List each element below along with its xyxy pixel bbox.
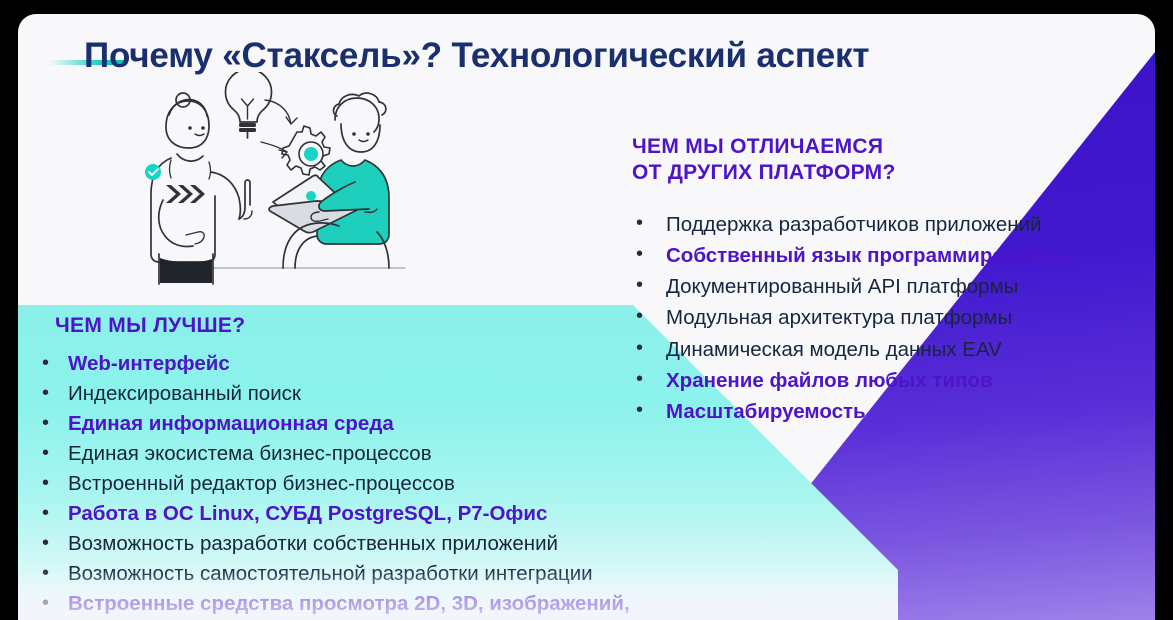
bullet-dot-icon: • xyxy=(36,349,68,378)
bullet-dot-icon: • xyxy=(632,209,666,238)
left-column-heading: ЧЕМ МЫ ЛУЧШЕ? xyxy=(36,314,736,338)
list-item: • Индексированный поиск xyxy=(36,379,736,409)
list-item: • Единая информационная среда xyxy=(36,409,736,439)
list-item: • Встроенный редактор бизнес-процессов xyxy=(36,469,736,499)
list-item-label: Работа в ОС Linux, СУБД PostgreSQL, Р7-О… xyxy=(68,499,736,529)
right-heading-line-2: ОТ ДРУГИХ ПЛАТФОРМ? xyxy=(632,160,1152,186)
bullet-dot-icon: • xyxy=(36,559,68,588)
bullet-dot-icon: • xyxy=(36,529,68,558)
list-item-label: Масштабируемость xyxy=(666,396,1152,427)
list-item-label: Возможность самостоятельной разработки и… xyxy=(68,559,736,589)
list-item-label: Встроенный редактор бизнес-процессов xyxy=(68,469,736,499)
video-frame: Почему «Стаксель»? Технологический аспек… xyxy=(0,0,1173,620)
presentation-slide: Почему «Стаксель»? Технологический аспек… xyxy=(18,14,1155,620)
list-item-label: Собственный язык программирования xyxy=(666,240,1152,271)
bullet-dot-icon: • xyxy=(36,589,68,618)
bullet-dot-icon: • xyxy=(632,240,666,269)
list-item-label: Индексированный поиск xyxy=(68,379,736,409)
list-item: • Возможность самостоятельной разработки… xyxy=(36,559,736,589)
list-item-label: Динамическая модель данных EAV xyxy=(666,334,1152,365)
list-item: • Web-интерфейс xyxy=(36,349,736,379)
bullet-dot-icon: • xyxy=(36,469,68,498)
right-column-heading: ЧЕМ МЫ ОТЛИЧАЕМСЯ ОТ ДРУГИХ ПЛАТФОРМ? xyxy=(632,134,1152,187)
list-item: • Работа в ОС Linux, СУБД PostgreSQL, Р7… xyxy=(36,499,736,529)
right-heading-line-1: ЧЕМ МЫ ОТЛИЧАЕМСЯ xyxy=(632,134,1152,160)
bullet-dot-icon: • xyxy=(36,439,68,468)
list-item: • Возможность разработки собственных при… xyxy=(36,529,736,559)
list-item-label: Возможность разработки собственных прило… xyxy=(68,529,736,559)
list-item: • Документированный API платформы xyxy=(632,271,1152,302)
list-item-label: Документированный API платформы xyxy=(666,271,1152,302)
page-title: Почему «Стаксель»? Технологический аспек… xyxy=(84,36,869,76)
bullet-dot-icon: • xyxy=(632,271,666,300)
bullet-dot-icon: • xyxy=(36,409,68,438)
list-item-label: Встроенные средства просмотра 2D, 3D, из… xyxy=(68,589,736,619)
list-item: • Поддержка разработчиков приложений xyxy=(632,209,1152,240)
left-column: ЧЕМ МЫ ЛУЧШЕ? • Web-интерфейс • Индексир… xyxy=(36,314,736,620)
list-item: • Единая экосистема бизнес-процессов xyxy=(36,439,736,469)
list-item-label: Модульная архитектура платформы xyxy=(666,302,1152,333)
bullet-dot-icon: • xyxy=(36,499,68,528)
list-item: • Собственный язык программирования xyxy=(632,240,1152,271)
list-item-label: Web-интерфейс xyxy=(68,349,736,379)
list-item-label: Единая экосистема бизнес-процессов xyxy=(68,439,736,469)
list-item: • Встроенные средства просмотра 2D, 3D, … xyxy=(36,589,736,619)
left-bullet-list: • Web-интерфейс • Индексированный поиск … xyxy=(36,349,736,620)
list-item-label: Поддержка разработчиков приложений xyxy=(666,209,1152,240)
bullet-dot-icon: • xyxy=(36,379,68,408)
two-people-idea-illustration xyxy=(133,72,433,292)
list-item-label: Хранение файлов любых типов xyxy=(666,365,1152,396)
list-item-label: Единая информационная среда xyxy=(68,409,736,439)
